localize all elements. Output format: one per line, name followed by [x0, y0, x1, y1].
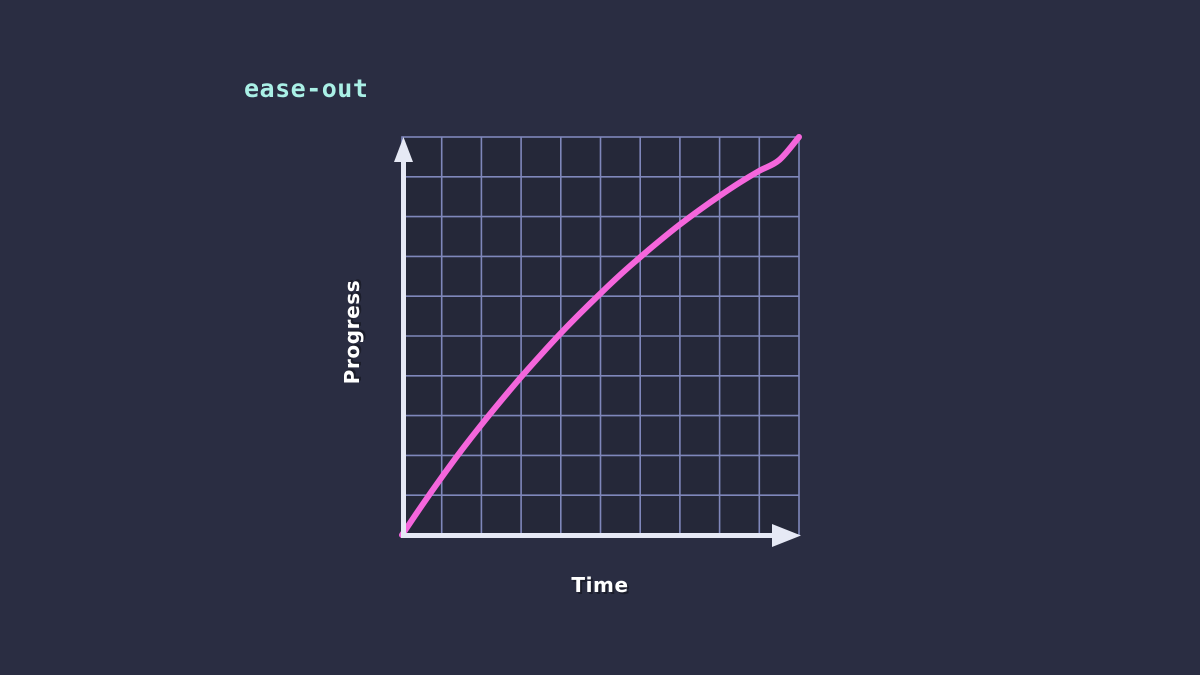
y-axis-label: Progress [342, 280, 362, 385]
x-axis-label: Time [571, 575, 628, 595]
chart-canvas: ease-out Progress Time [0, 0, 1200, 675]
